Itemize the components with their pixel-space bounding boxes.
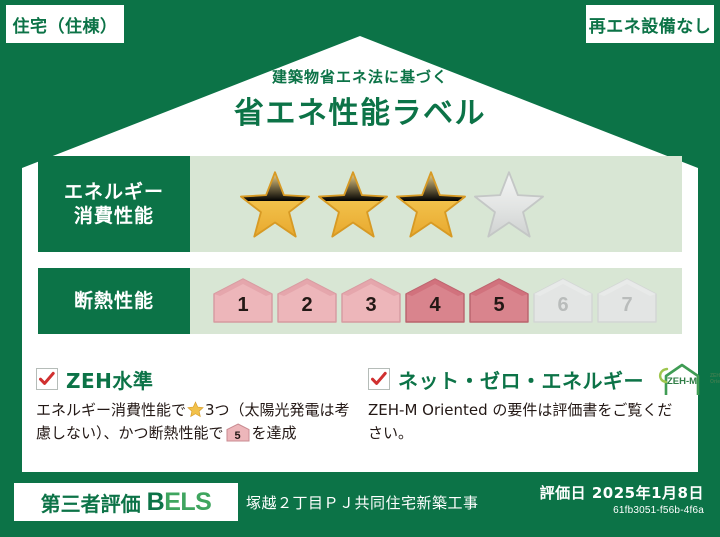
evaluation-date: 評価日 2025年1月8日 xyxy=(540,482,704,503)
insulation-level-value: 1 xyxy=(212,294,274,317)
insulation-level-3: 3 xyxy=(340,277,402,325)
criteria-nze-title: ネット・ゼロ・エネルギー xyxy=(398,365,644,394)
zeh-m-logo-subtext: ZEH-M Oriented xyxy=(710,373,720,386)
criteria-nze-header: ネット・ゼロ・エネルギー ZEH-M ZEH-M Oriented xyxy=(368,366,686,392)
criteria-zeh-text-1: エネルギー消費性能で xyxy=(36,401,186,419)
tag-building-type: 住宅（住棟） xyxy=(6,5,124,43)
insulation-level-scale: 1234567 xyxy=(190,268,682,334)
label-title: 省エネ性能ラベル xyxy=(0,88,720,132)
zeh-m-house-icon: ZEH-M xyxy=(656,362,708,396)
energy-label-line1: エネルギー xyxy=(64,180,164,204)
svg-text:ZEH-M: ZEH-M xyxy=(667,376,697,387)
criteria-zeh-description: エネルギー消費性能で3つ（太陽光発電は考慮しない）、かつ断熱性能で5を達成 xyxy=(36,399,356,446)
criteria-zeh-header: ZEH水準 xyxy=(36,366,356,392)
criteria-nze-description: ZEH-M Oriented の要件は評価書をご覧ください。 xyxy=(368,399,686,446)
insulation-level-5: 5 xyxy=(468,277,530,325)
insulation-level-2: 2 xyxy=(276,277,338,325)
energy-label-line2: 消費性能 xyxy=(74,204,154,228)
insulation-level-7: 7 xyxy=(596,277,658,325)
check-icon-zeh xyxy=(36,368,58,390)
evaluation-info: 評価日 2025年1月8日 61fb3051-f56b-4f6a xyxy=(540,482,704,516)
bels-badge-jp: 第三者評価 xyxy=(41,488,141,517)
insulation-performance-label: 断熱性能 xyxy=(38,268,190,334)
house-icon-inline-level: 5 xyxy=(226,423,250,442)
insulation-level-6: 6 xyxy=(532,277,594,325)
criteria-zeh-standard: ZEH水準 エネルギー消費性能で3つ（太陽光発電は考慮しない）、かつ断熱性能で5… xyxy=(36,366,356,446)
inline-house-level-value: 5 xyxy=(226,428,250,445)
energy-performance-row: エネルギー 消費性能 xyxy=(38,156,682,252)
energy-star-rating xyxy=(190,156,682,252)
tag-renewable-status: 再エネ設備なし xyxy=(586,5,714,43)
tag-renewable-status-text: 再エネ設備なし xyxy=(589,12,712,37)
star-icon-filled xyxy=(238,167,312,241)
bels-badge-en-part2: ELS xyxy=(164,488,211,516)
star-icon-filled xyxy=(316,167,390,241)
star-icon-filled xyxy=(394,167,468,241)
insulation-label-line1: 断熱性能 xyxy=(74,289,154,313)
insulation-level-value: 5 xyxy=(468,294,530,317)
insulation-level-value: 6 xyxy=(532,294,594,317)
bels-energy-label: 住宅（住棟） 再エネ設備なし 建築物省エネ法に基づく 省エネ性能ラベル エネルギ… xyxy=(0,0,720,537)
criteria-net-zero-energy: ネット・ゼロ・エネルギー ZEH-M ZEH-M Oriented ZEH-M … xyxy=(368,366,686,446)
insulation-performance-row: 断熱性能 1234567 xyxy=(38,268,682,334)
evaluation-id: 61fb3051-f56b-4f6a xyxy=(540,505,704,516)
bels-badge-en: BELS xyxy=(147,488,212,517)
energy-performance-label: エネルギー 消費性能 xyxy=(38,156,190,252)
insulation-level-4: 4 xyxy=(404,277,466,325)
insulation-level-value: 4 xyxy=(404,294,466,317)
zeh-m-sub-line1: ZEH-M xyxy=(710,373,720,379)
tag-building-type-text: 住宅（住棟） xyxy=(13,12,118,37)
insulation-level-value: 7 xyxy=(596,294,658,317)
footer-bar: 第三者評価 BELS 塚越２丁目ＰＪ共同住宅新築工事 評価日 2025年1月8日… xyxy=(0,472,720,537)
criteria-zeh-title: ZEH水準 xyxy=(66,365,153,394)
insulation-level-value: 2 xyxy=(276,294,338,317)
insulation-level-value: 3 xyxy=(340,294,402,317)
zeh-m-logo: ZEH-M ZEH-M Oriented xyxy=(656,362,720,396)
zeh-m-sub-line2: Oriented xyxy=(710,379,720,385)
insulation-level-1: 1 xyxy=(212,277,274,325)
building-name: 塚越２丁目ＰＪ共同住宅新築工事 xyxy=(246,492,479,513)
bels-badge: 第三者評価 BELS xyxy=(14,483,238,521)
bels-badge-en-part1: B xyxy=(147,488,165,516)
star-icon-empty xyxy=(472,167,546,241)
criteria-zeh-text-3: を達成 xyxy=(252,424,297,442)
star-icon-inline xyxy=(187,401,204,418)
label-subtitle: 建築物省エネ法に基づく xyxy=(0,66,720,87)
check-icon-nze xyxy=(368,368,390,390)
